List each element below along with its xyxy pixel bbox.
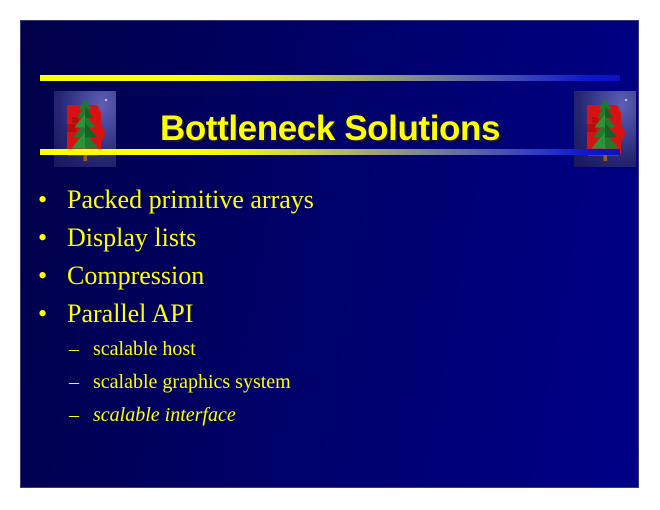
header-rule-top <box>40 75 620 81</box>
presentation-slide: Bottleneck Solutions <box>21 21 638 487</box>
bullet-dot-icon: • <box>38 257 47 295</box>
bullet-item: • Parallel API <box>21 295 638 333</box>
sub-bullet-item: – scalable host <box>21 333 638 366</box>
sub-bullet-item: – scalable interface <box>21 399 638 432</box>
bullet-item: • Display lists <box>21 219 638 257</box>
sub-bullet-item: – scalable graphics system <box>21 366 638 399</box>
bullet-item-label: Packed primitive arrays <box>67 181 638 219</box>
stanford-tree-logo <box>574 91 636 167</box>
bullet-dash-icon: – <box>69 366 79 399</box>
sub-bullet-item-label: scalable interface <box>93 399 638 432</box>
bullet-dash-icon: – <box>69 333 79 366</box>
bullet-item-label: Display lists <box>67 219 638 257</box>
slide-canvas: Bottleneck Solutions <box>0 0 660 510</box>
bullet-item: • Compression <box>21 257 638 295</box>
bullet-item-label: Compression <box>67 257 638 295</box>
slide-body-bullet-list: • Packed primitive arrays • Display list… <box>21 181 638 432</box>
slide-header: Bottleneck Solutions <box>21 21 638 166</box>
bullet-item: • Packed primitive arrays <box>21 181 638 219</box>
bullet-dot-icon: • <box>38 219 47 257</box>
bullet-item-label: Parallel API <box>67 295 638 333</box>
header-rule-bottom <box>40 149 620 155</box>
bullet-dash-icon: – <box>69 399 79 432</box>
sub-bullet-item-label: scalable host <box>93 333 638 366</box>
stanford-tree-logo <box>54 91 116 167</box>
bullet-dot-icon: • <box>38 181 47 219</box>
bullet-dot-icon: • <box>38 295 47 333</box>
sub-bullet-item-label: scalable graphics system <box>93 366 638 399</box>
